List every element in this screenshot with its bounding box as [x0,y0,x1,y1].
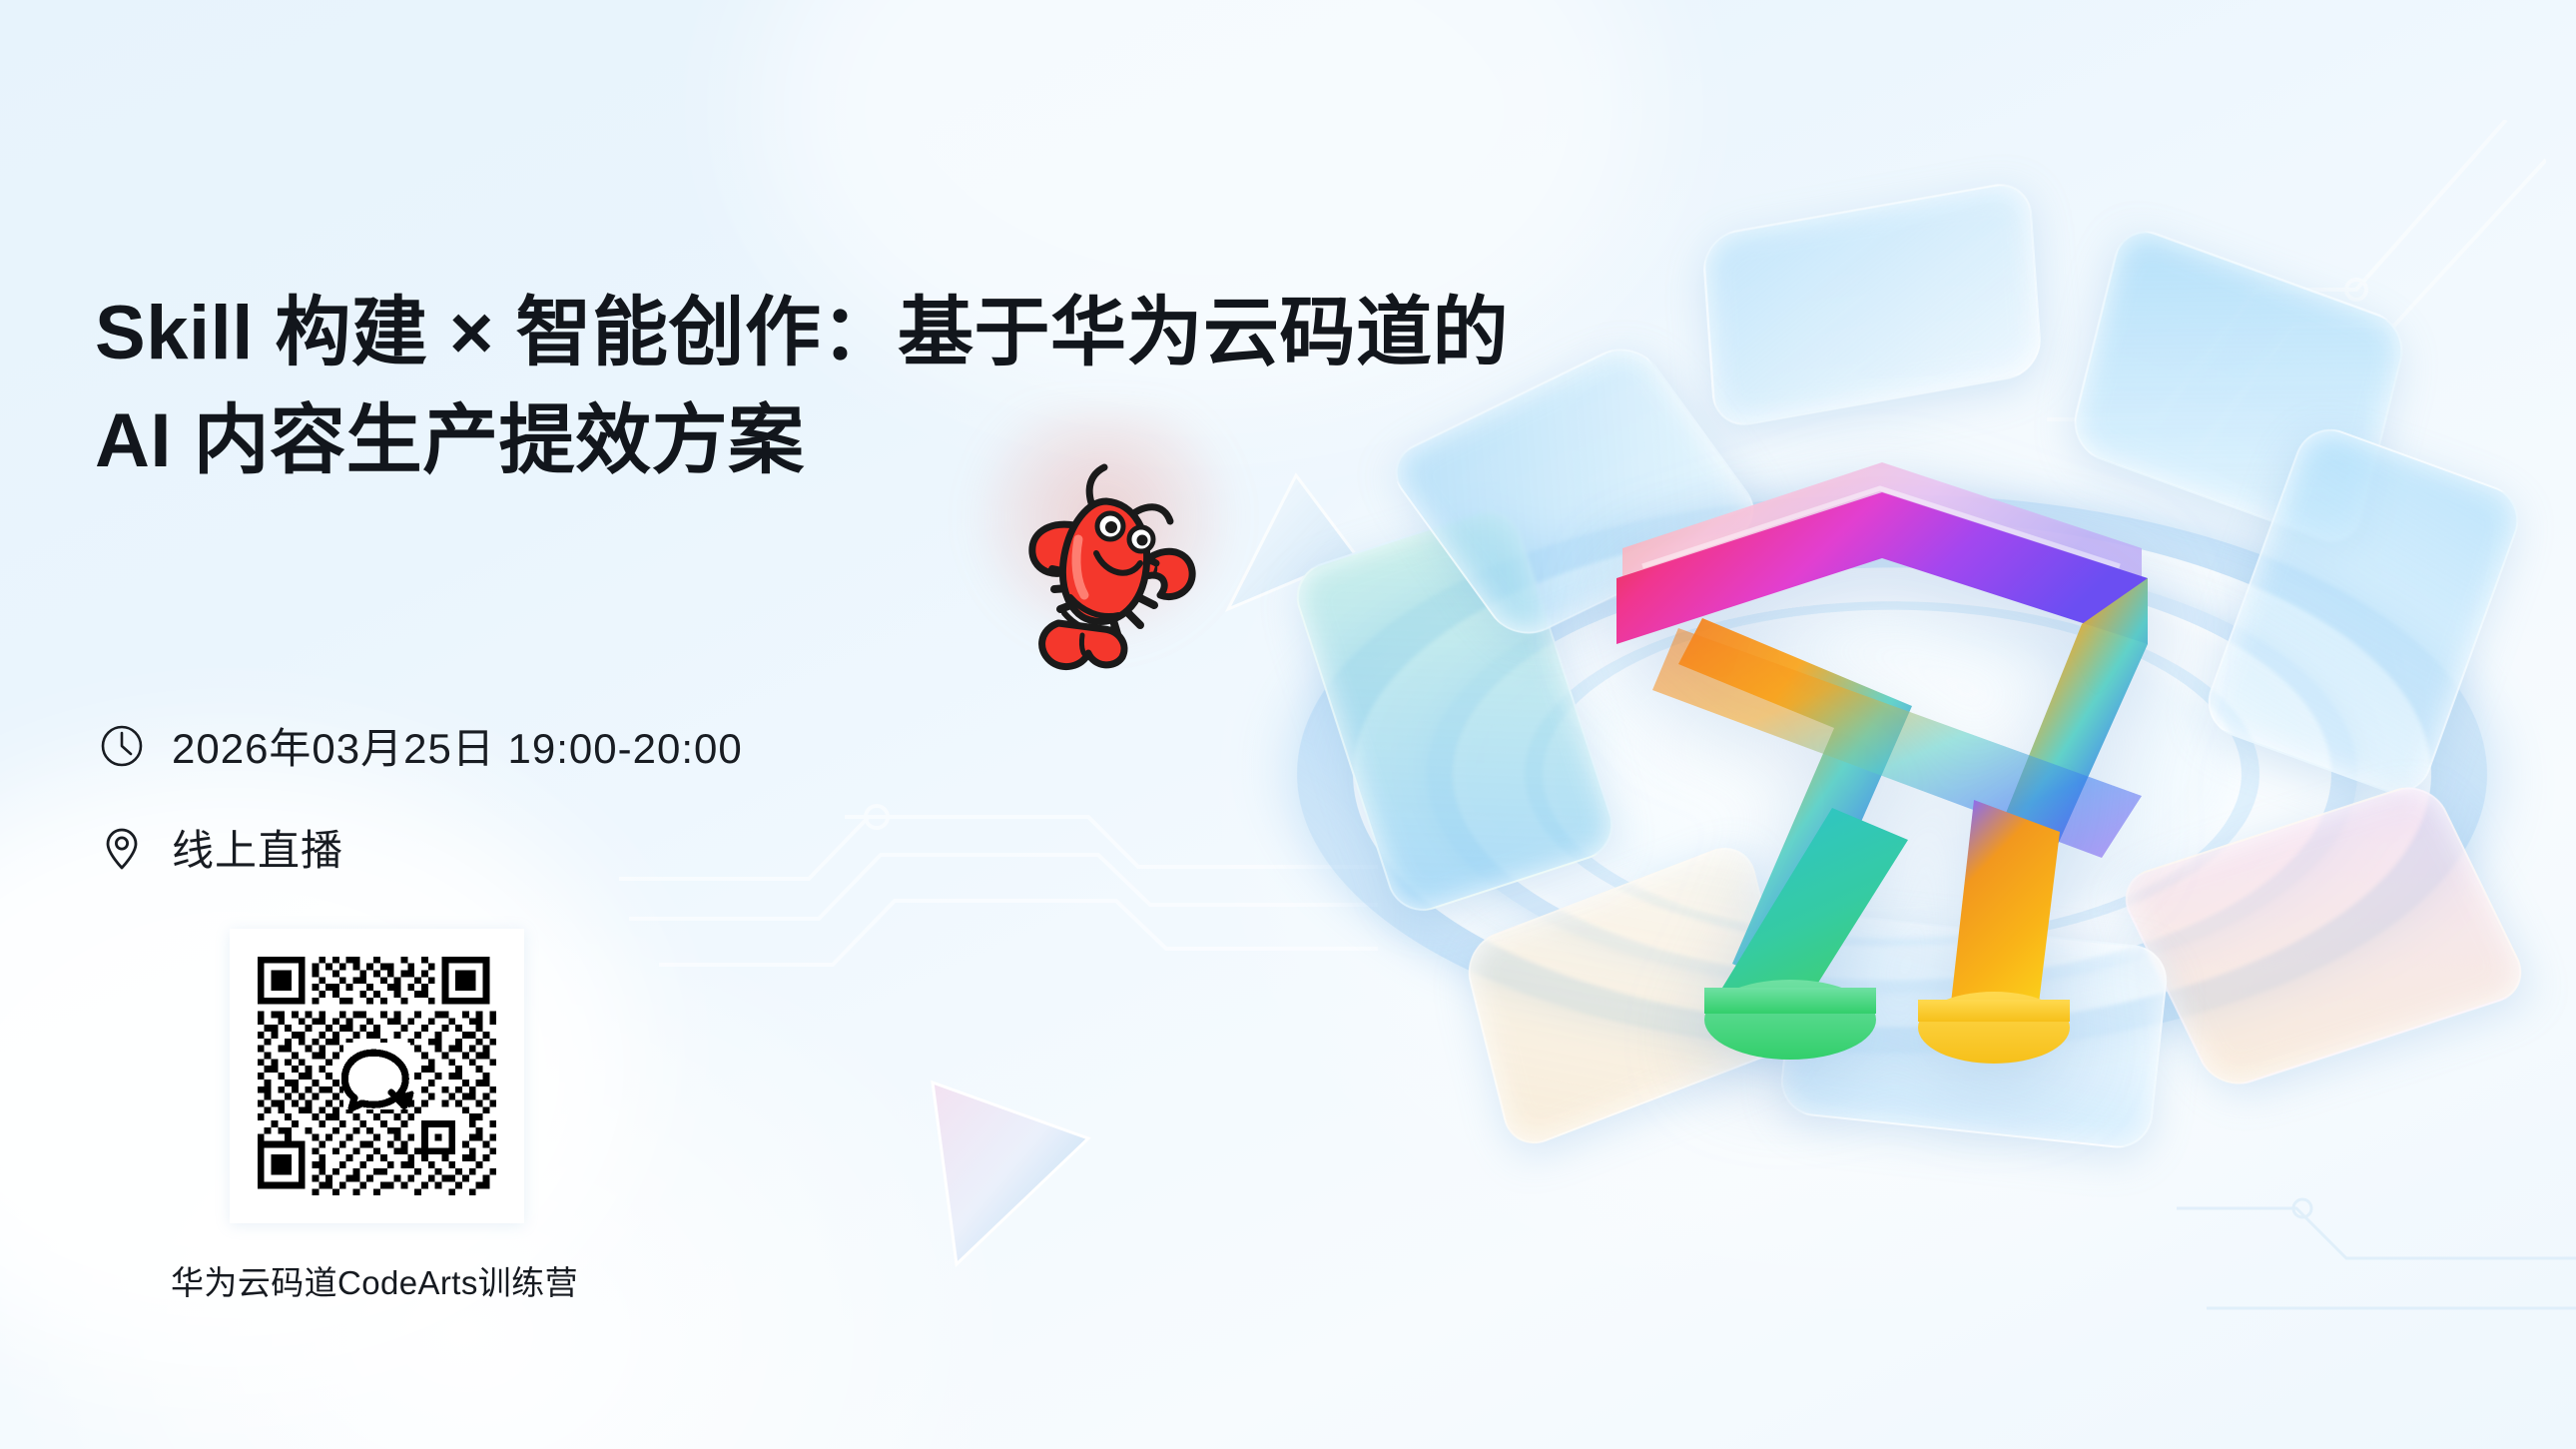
glass-petal-top [1701,179,2044,431]
qr-code-image[interactable] [251,950,503,1202]
content-column: Skill 构建 × 智能创作：基于华为云码道的 AI 内容生产提效方案 202… [0,0,1228,1449]
rainbow-ribbon [1583,428,2202,1068]
clock-icon [98,722,146,770]
lobster-emoji-icon [978,429,1228,679]
event-time-row: 2026年03月25日 19:00-20:00 [98,715,743,776]
qr-caption: 华为云码道CodeArts训练营 [95,1256,654,1304]
title-line-1: Skill 构建 × 智能创作：基于华为云码道的 [95,280,1213,387]
event-time-text: 2026年03月25日 19:00-20:00 [172,715,743,776]
location-pin-icon [98,824,146,872]
event-place-text: 线上直播 [172,817,343,878]
event-banner: Skill 构建 × 智能创作：基于华为云码道的 AI 内容生产提效方案 202… [0,0,2576,1449]
event-place-row: 线上直播 [98,817,343,878]
qr-code-panel[interactable] [230,929,524,1223]
